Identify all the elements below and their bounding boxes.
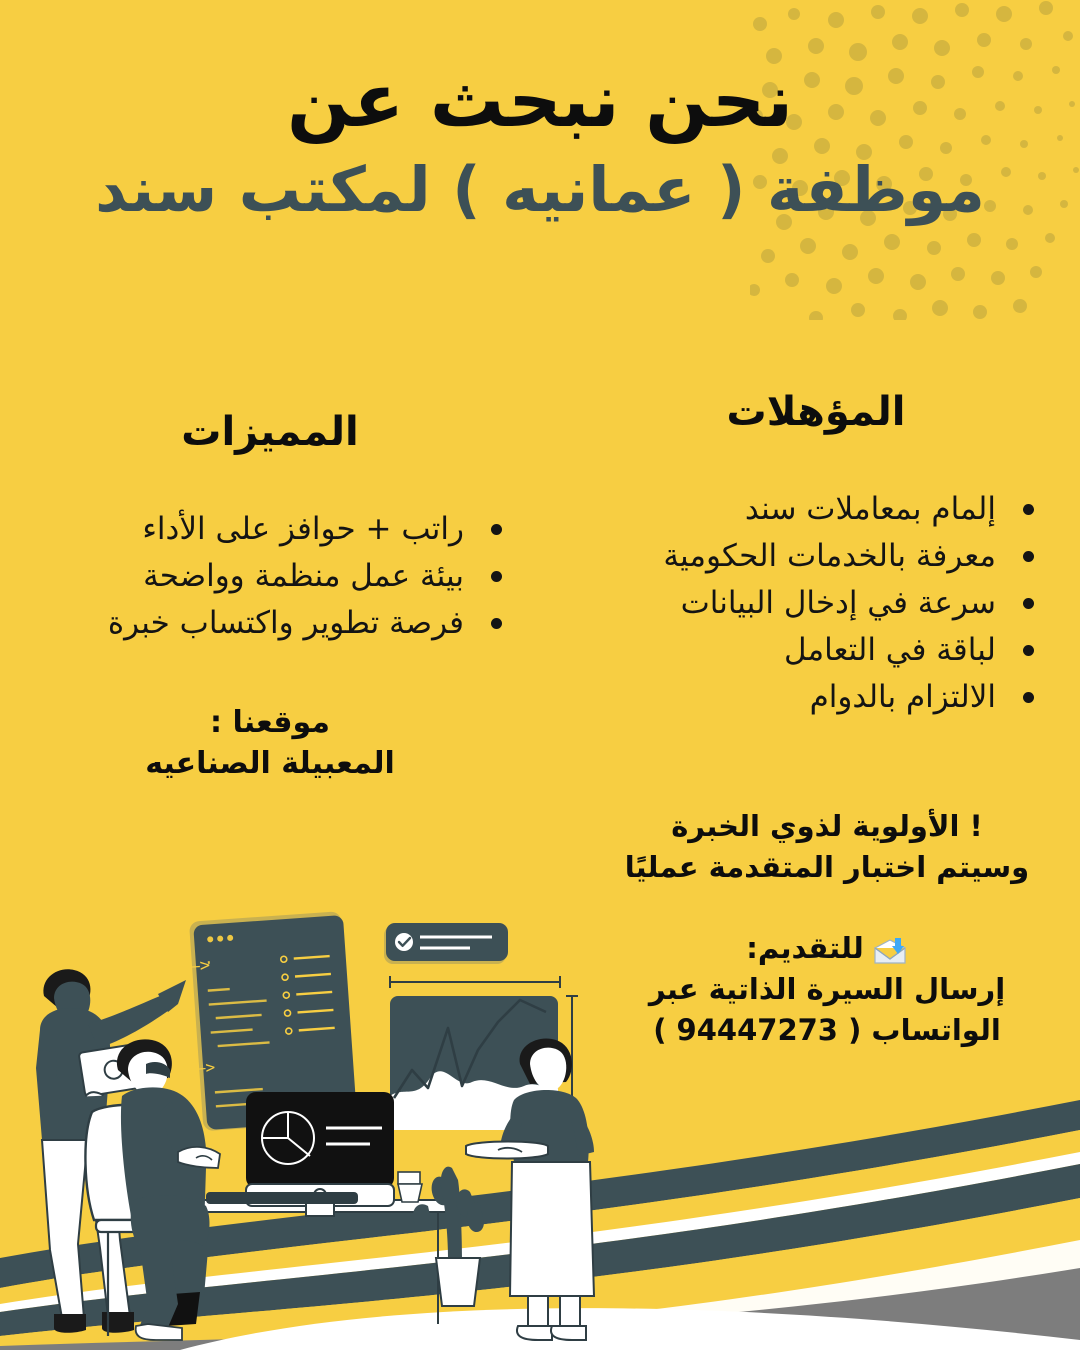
list-item: فرصة تطوير واكتساب خبرة: [40, 600, 510, 647]
list-item: سرعة في إدخال البيانات: [612, 580, 1042, 627]
list-item: إلمام بمعاملات سند: [612, 486, 1042, 533]
list-item: الالتزام بالدوام: [612, 674, 1042, 721]
potted-cactus-plant: [413, 1167, 484, 1306]
page-subtitle: موظفة ( عمانيه ) لمكتب سند: [0, 156, 1080, 224]
apply-line2: الواتساب ( 94447273 ): [612, 1010, 1042, 1051]
qualifications-title: المؤهلات: [612, 392, 1042, 432]
list-item: لباقة في التعامل: [612, 627, 1042, 674]
qualifications-list: إلمام بمعاملات سند معرفة بالخدمات الحكوم…: [612, 486, 1042, 722]
page-title: نحن نبحث عن: [0, 62, 1080, 142]
svg-text:<—>: <—>: [179, 955, 211, 977]
task-card: [384, 923, 508, 964]
priority-note-line2: وسيتم اختبار المتقدمة عمليًا: [612, 847, 1042, 888]
coffee-cup: [398, 1172, 422, 1202]
apply-note: للتقديم: إرسال السيرة الذاتية عبر الواتس…: [612, 928, 1042, 1052]
incoming-envelope-icon: [872, 935, 908, 963]
perks-title: المميزات: [40, 412, 510, 452]
apply-label: للتقديم:: [746, 928, 863, 969]
office-teamwork-illustration: <—> <—/>: [0, 900, 640, 1350]
list-item: معرفة بالخدمات الحكومية: [612, 533, 1042, 580]
priority-note-line1: ! الأولوية لذوي الخبرة: [612, 806, 1042, 847]
list-item: راتب + حوافز على الأداء: [40, 506, 510, 553]
perks-section: المميزات راتب + حوافز على الأداء بيئة عم…: [40, 412, 510, 784]
list-item: بيئة عمل منظمة وواضحة: [40, 553, 510, 600]
location-label: موقعنا :: [40, 703, 500, 744]
poster-header: نحن نبحث عن موظفة ( عمانيه ) لمكتب سند: [0, 62, 1080, 224]
poster-canvas: نحن نبحث عن موظفة ( عمانيه ) لمكتب سند ا…: [0, 0, 1080, 1350]
location-block: موقعنا : المعبيلة الصناعيه: [40, 703, 510, 784]
apply-line1: إرسال السيرة الذاتية عبر: [612, 969, 1042, 1010]
apply-heading-row: للتقديم:: [612, 928, 1042, 969]
priority-note: ! الأولوية لذوي الخبرة وسيتم اختبار المت…: [612, 806, 1042, 888]
location-value: المعبيلة الصناعيه: [40, 744, 500, 785]
perks-list: راتب + حوافز على الأداء بيئة عمل منظمة و…: [40, 506, 510, 647]
svg-text:<—/>: <—/>: [176, 1057, 216, 1079]
qualifications-section: المؤهلات إلمام بمعاملات سند معرفة بالخدم…: [612, 392, 1042, 722]
